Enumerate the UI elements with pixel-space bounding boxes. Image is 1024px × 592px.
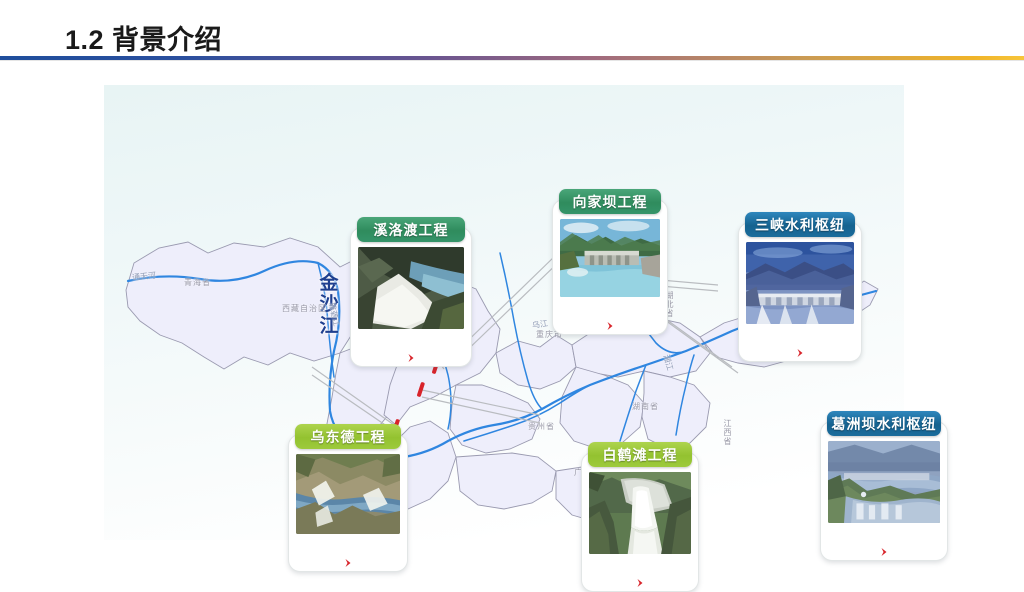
card-title-wudongde: 乌东德工程 — [295, 424, 401, 449]
card-photo-sanxia — [746, 242, 854, 324]
card-title-xiluodu: 溪洛渡工程 — [357, 217, 465, 242]
card-pin-gezhouba — [879, 547, 890, 558]
card-pin-xiangjiaba — [605, 321, 616, 332]
province-label-jiangxi: 江西省 — [722, 419, 733, 446]
card-title-baihetan: 白鹤滩工程 — [588, 442, 692, 467]
card-photo-xiangjiaba — [560, 219, 660, 297]
card-pin-sanxia — [795, 348, 806, 359]
card-photo-xiluodu — [358, 247, 464, 329]
card-photo-gezhouba — [828, 441, 940, 523]
project-card-xiangjiaba[interactable]: 向家坝工程 — [552, 199, 668, 335]
title-divider-shadow — [0, 60, 1024, 61]
card-pin-xiluodu — [406, 353, 417, 364]
province-label-guizhou: 贵州省 — [528, 421, 555, 432]
project-card-sanxia[interactable]: 三峡水利枢纽 — [738, 222, 862, 362]
project-card-xiluodu[interactable]: 溪洛渡工程 — [350, 227, 472, 367]
card-title-xiangjiaba: 向家坝工程 — [559, 189, 661, 214]
page-title: 1.2 背景介绍 — [65, 18, 222, 57]
province-label-hunan: 湖南省 — [632, 401, 659, 412]
project-card-baihetan[interactable]: 白鹤滩工程 — [581, 452, 699, 592]
dam-marker-baihetan — [417, 382, 425, 398]
project-card-gezhouba[interactable]: 葛洲坝水利枢纽 — [820, 421, 948, 561]
card-pin-wudongde — [343, 558, 354, 569]
card-pin-baihetan — [635, 578, 646, 589]
project-card-wudongde[interactable]: 乌东德工程 — [288, 434, 408, 572]
card-photo-baihetan — [589, 472, 691, 554]
province-label-qinghai: 青海省 — [184, 277, 211, 288]
card-photo-wudongde — [296, 454, 400, 534]
card-title-gezhouba: 葛洲坝水利枢纽 — [827, 411, 941, 436]
card-title-sanxia: 三峡水利枢纽 — [745, 212, 855, 237]
province-label-xizang: 西藏自治区 — [282, 303, 327, 314]
